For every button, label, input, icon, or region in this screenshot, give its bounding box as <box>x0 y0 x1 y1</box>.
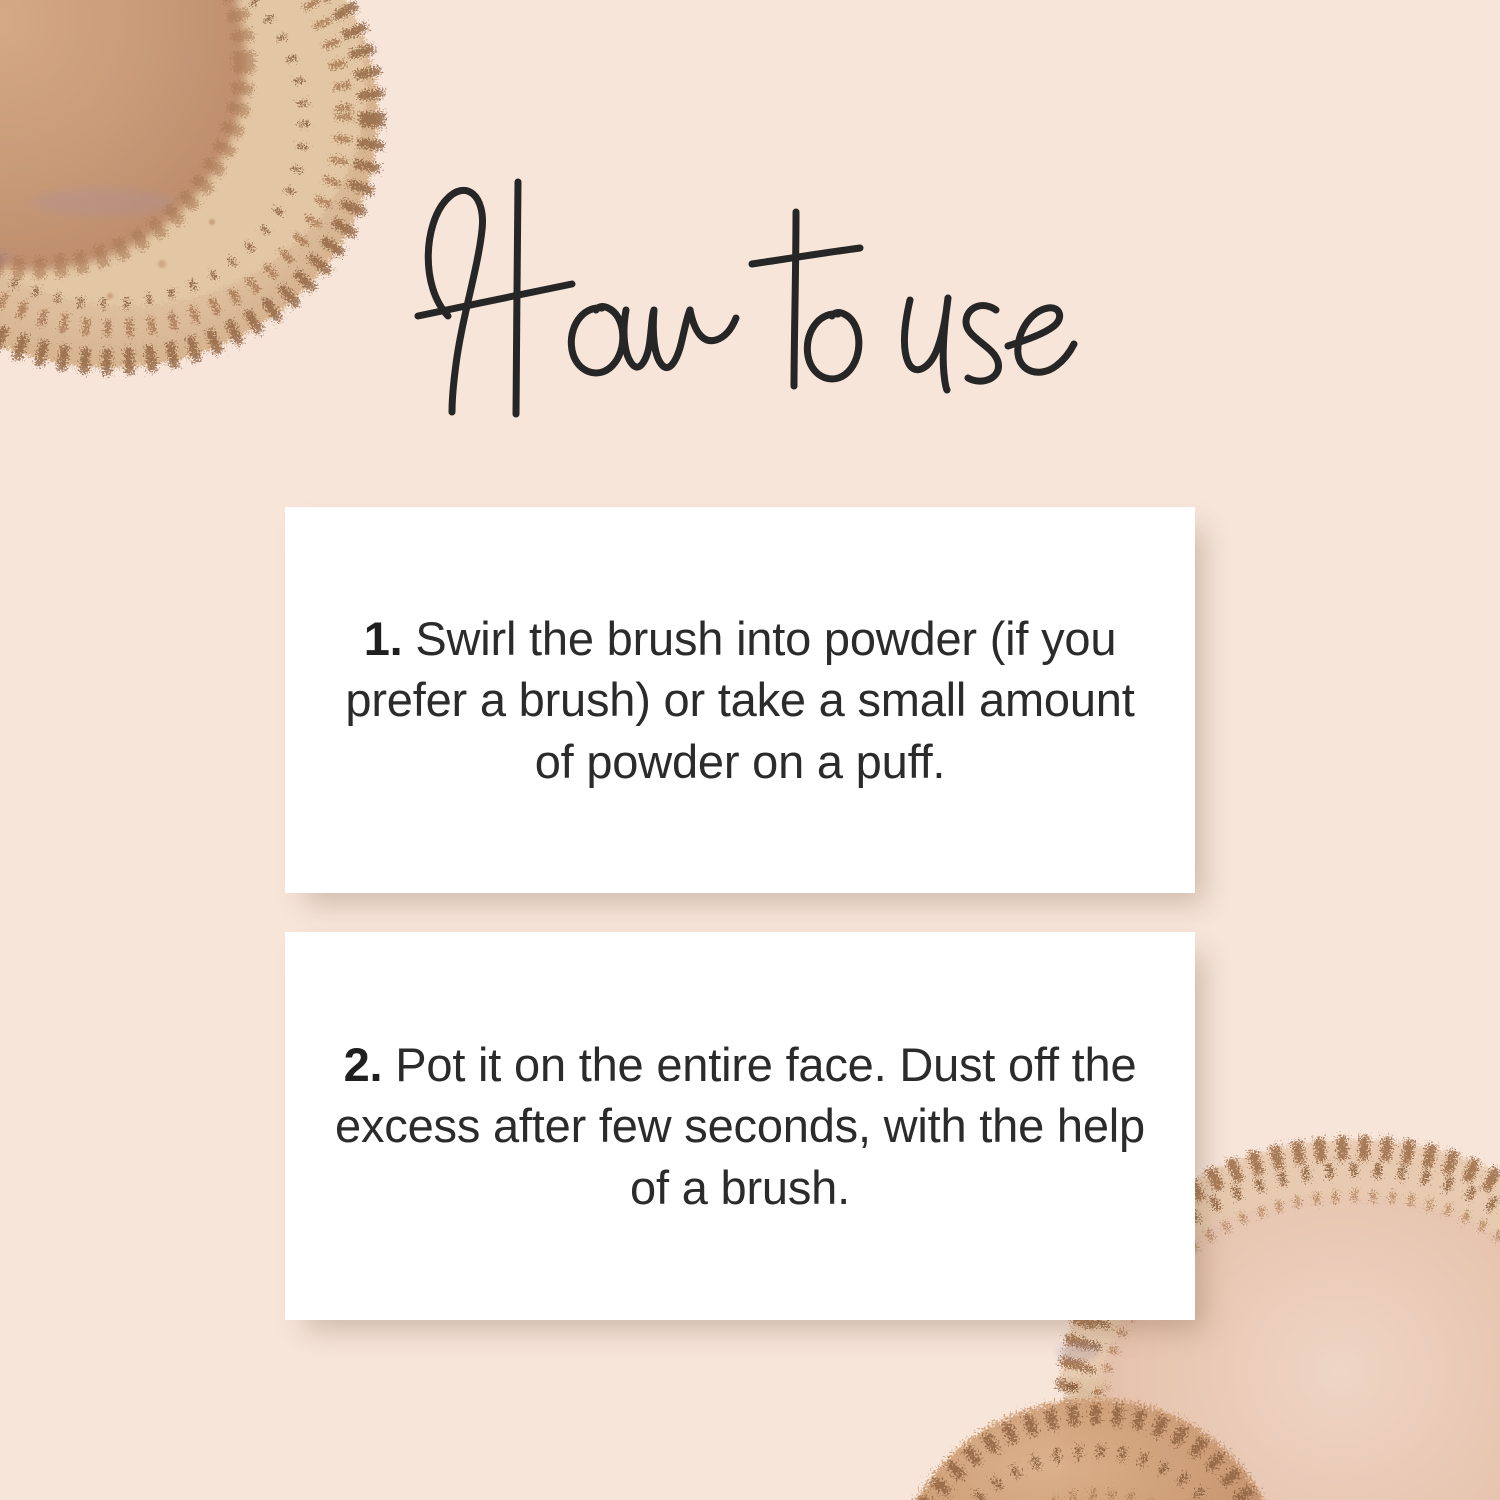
step-card-2: 2. Pot it on the entire face. Dust off t… <box>285 932 1195 1320</box>
step-card-1: 1. Swirl the brush into powder (if you p… <box>285 507 1195 893</box>
page-title: How to use <box>0 168 1500 418</box>
poster-canvas: How to use 1 <box>0 0 1500 1500</box>
step-2-paragraph: 2. Pot it on the entire face. Dust off t… <box>333 1034 1147 1217</box>
step-2-text: Pot it on the entire face. Dust off the … <box>335 1038 1145 1213</box>
step-1-text: Swirl the brush into powder (if you pref… <box>345 612 1134 787</box>
steps-list: 1. Swirl the brush into powder (if you p… <box>285 507 1195 1320</box>
step-1-paragraph: 1. Swirl the brush into powder (if you p… <box>343 608 1137 791</box>
step-2-number: 2. <box>344 1038 383 1091</box>
page-title-script-lettering <box>390 168 1110 418</box>
step-1-number: 1. <box>364 612 403 665</box>
